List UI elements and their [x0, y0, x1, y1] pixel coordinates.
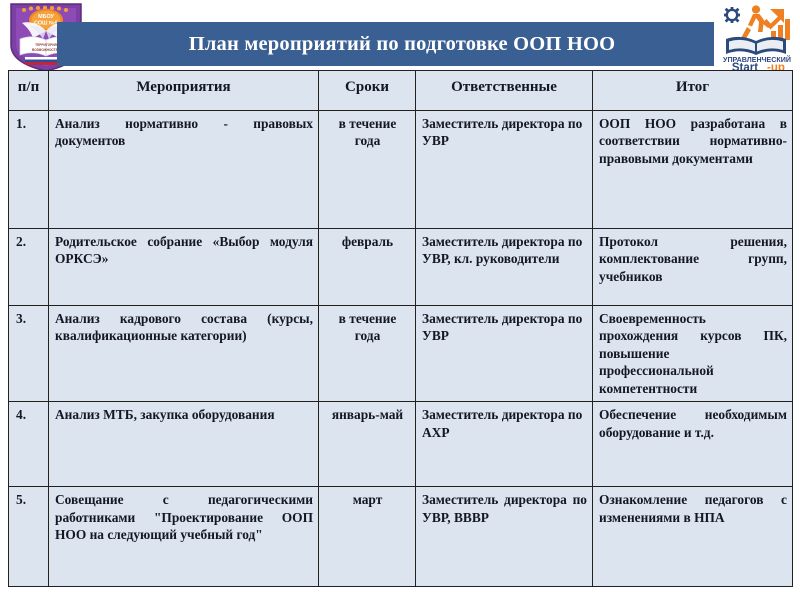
row-responsible: Заместитель директора по УВР [416, 111, 593, 229]
row-number: 1. [9, 111, 49, 229]
row-result: ООП НОО разработана в соответствии норма… [593, 111, 793, 229]
row-responsible: Заместитель директора по УВР, ВВВР [416, 487, 593, 587]
startup-logo-icon: УПРАВЛЕНЧЕСКИЙ Start -up [714, 1, 800, 71]
row-number: 4. [9, 402, 49, 487]
table-row: 5. Совещание с педагогическими работника… [9, 487, 793, 587]
startup-program-logo: УПРАВЛЕНЧЕСКИЙ Start -up [714, 1, 800, 71]
slide-canvas: МБОУ СОШ №5 ТЕРРИТОРИЯ ВОЗМОЖНОСТЕЙ План… [0, 0, 800, 600]
row-event: Совещание с педагогическими работниками … [49, 487, 319, 587]
table-row: 2. Родительское собрание «Выбор модуля О… [9, 229, 793, 306]
svg-text:ТЕРРИТОРИЯ: ТЕРРИТОРИЯ [35, 43, 57, 47]
row-term: февраль [319, 229, 416, 306]
row-number: 5. [9, 487, 49, 587]
page-title: План мероприятий по подготовке ООП НОО [189, 33, 616, 56]
row-term: январь-май [319, 402, 416, 487]
row-responsible: Заместитель директора по УВР [416, 306, 593, 402]
column-header-terms: Сроки [319, 71, 416, 111]
table-row: 1. Анализ нормативно - правовых документ… [9, 111, 793, 229]
row-term: в течение года [319, 306, 416, 402]
row-responsible: Заместитель директора по АХР [416, 402, 593, 487]
plan-table: п/п Мероприятия Сроки Ответственные Итог… [8, 70, 793, 587]
row-responsible: Заместитель директора по УВР, кл. руково… [416, 229, 593, 306]
column-header-np: п/п [9, 71, 49, 111]
row-event: Анализ МТБ, закупка оборудования [49, 402, 319, 487]
row-result: Обеспечение необходимым оборудование и т… [593, 402, 793, 487]
row-term: в течение года [319, 111, 416, 229]
row-result: Ознакомление педагогов с изменениями в Н… [593, 487, 793, 587]
svg-text:МБОУ: МБОУ [38, 14, 54, 20]
row-term: март [319, 487, 416, 587]
row-event: Родительское собрание «Выбор модуля ОРКС… [49, 229, 319, 306]
table-row: 4. Анализ МТБ, закупка оборудования янва… [9, 402, 793, 487]
row-number: 2. [9, 229, 49, 306]
column-header-events: Мероприятия [49, 71, 319, 111]
row-number: 3. [9, 306, 49, 402]
table-header-row: п/п Мероприятия Сроки Ответственные Итог [9, 71, 793, 111]
row-event: Анализ нормативно - правовых документов [49, 111, 319, 229]
column-header-responsible: Ответственные [416, 71, 593, 111]
column-header-result: Итог [593, 71, 793, 111]
row-result: Своевременность прохождения курсов ПК, п… [593, 306, 793, 402]
row-event: Анализ кадрового состава (курсы, квалифи… [49, 306, 319, 402]
table-row: 3. Анализ кадрового состава (курсы, квал… [9, 306, 793, 402]
slide-title-band: План мероприятий по подготовке ООП НОО [57, 22, 747, 66]
row-result: Протокол решения, комплектование групп, … [593, 229, 793, 306]
